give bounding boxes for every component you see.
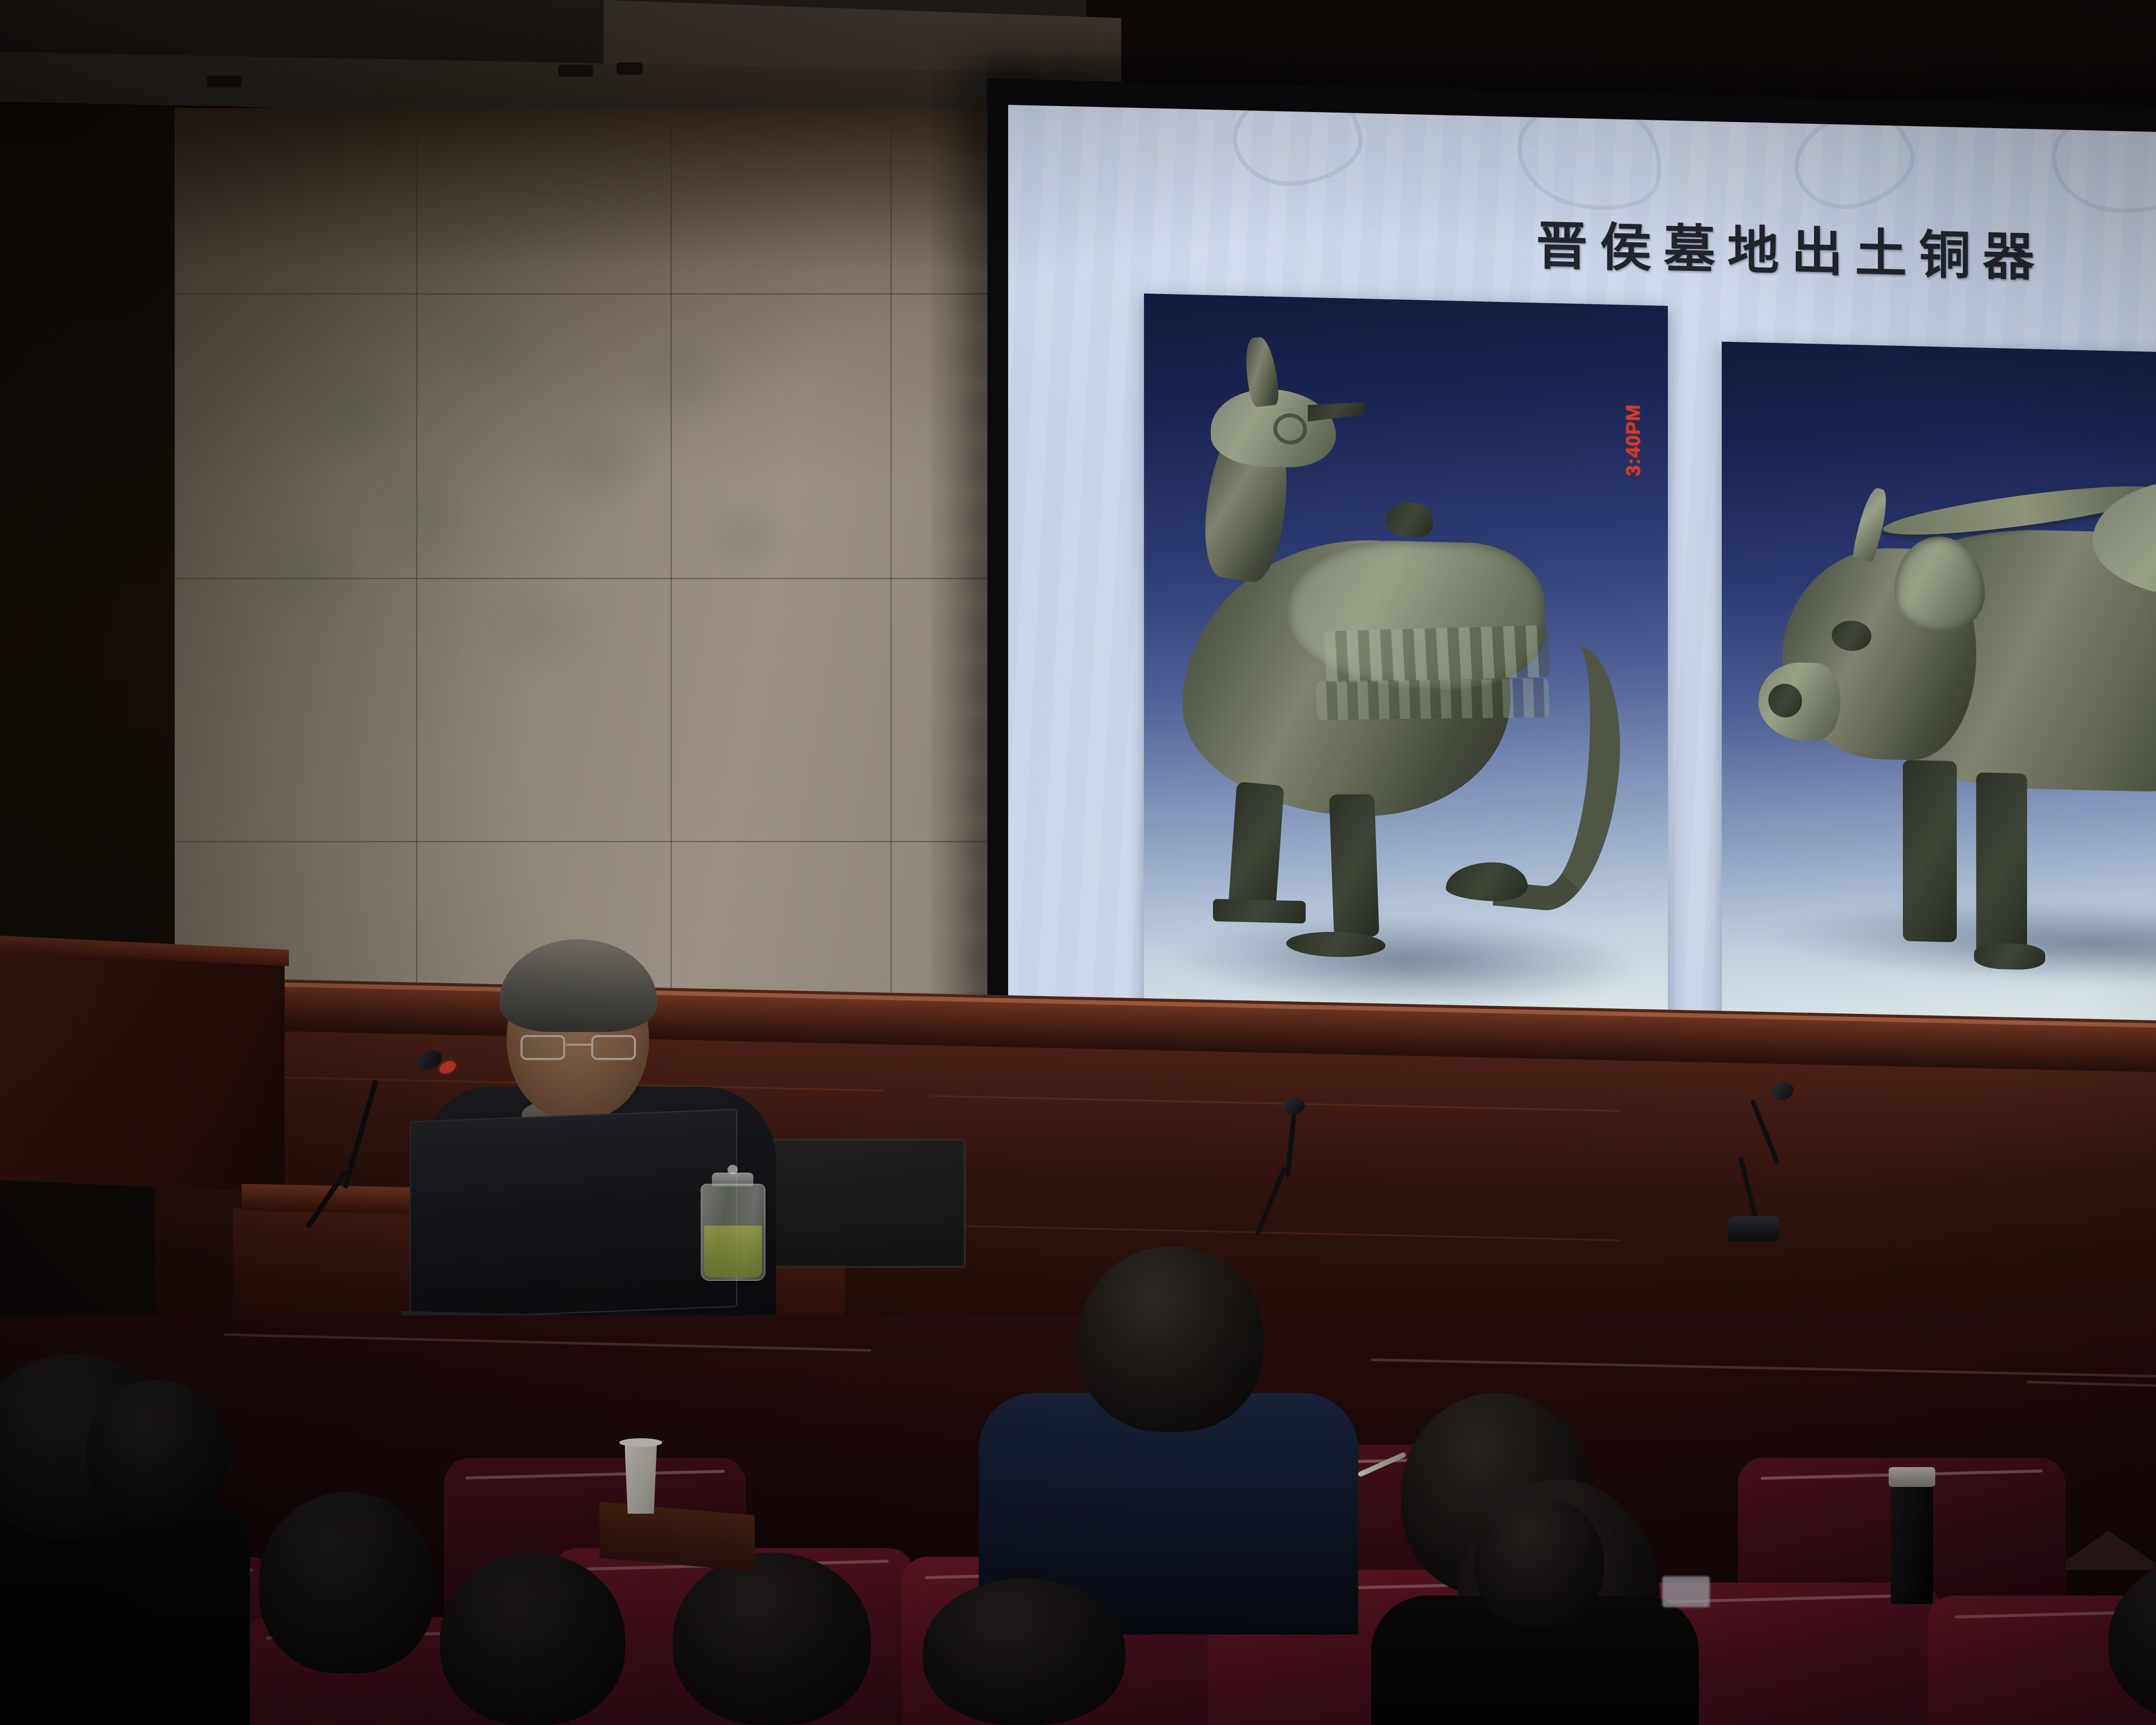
panel-seam (416, 108, 417, 1005)
slide-photo-bird-vessel: 3:40PM (1144, 294, 1668, 1065)
panel-seam (175, 841, 990, 842)
slide-watermark-shape (1781, 105, 1925, 222)
thermos-cap (1889, 1467, 1935, 1487)
audience-member-head (1475, 1496, 1604, 1626)
panel-seam (671, 108, 672, 1005)
microphone-base (1727, 1216, 1779, 1241)
recessed-downlight-icon (558, 65, 593, 77)
bird-vessel-eye (1273, 413, 1307, 445)
panel-seam (175, 293, 990, 295)
lectern (0, 938, 285, 1193)
seat-piping (465, 1470, 725, 1480)
slide-title: 晋侯墓地出土铜器 (1008, 191, 2156, 303)
audience-member-head (259, 1492, 436, 1673)
recessed-downlight-icon (617, 63, 642, 75)
bird-vessel-leg (1329, 794, 1379, 937)
phone-screen-glow[interactable] (1662, 1576, 1710, 1607)
photo-floor-shadow (1767, 894, 2156, 992)
lecture-hall-scene: 晋侯墓地出土铜器 (0, 0, 2156, 1725)
tea-jar-lid (712, 1173, 753, 1186)
bird-vessel-lid-finial (1385, 502, 1433, 538)
slide-watermark-shape (2046, 105, 2156, 221)
presenter-laptop-screen[interactable] (410, 1109, 737, 1320)
audience-member-head (673, 1552, 871, 1725)
panel-seam (890, 108, 892, 1005)
slide-watermark-shape (1226, 105, 1368, 192)
thermos-bottle[interactable] (1891, 1479, 1933, 1604)
glass-tea-jar (701, 1184, 765, 1281)
paper-cup-rim (619, 1438, 662, 1447)
pig-zun-hoof (1974, 943, 2045, 970)
photo-floor-shadow (1175, 909, 1636, 1011)
eyeglass-bridge (566, 1044, 591, 1046)
wainscot-panel-line (931, 1095, 1621, 1112)
stage-chair (772, 1138, 966, 1268)
audience-member-head (1078, 1246, 1263, 1432)
eyeglass-lens (591, 1035, 636, 1060)
audience-member-head (440, 1552, 625, 1725)
bird-vessel-leg (1228, 781, 1285, 915)
left-dark-wall-pillar (0, 106, 181, 990)
tea-jar-knob (727, 1165, 738, 1174)
wainscot-panel-line (931, 1224, 1621, 1241)
eyeglass-lens (520, 1035, 565, 1060)
acoustic-wall-panels (175, 108, 990, 1005)
audience-member-head (923, 1578, 1125, 1725)
audience-member-head (86, 1380, 229, 1522)
pig-zun-nostril (1768, 684, 1802, 718)
camera-timestamp-stamp: 3:40PM (1621, 404, 1645, 477)
rear-wall-trim (2027, 1381, 2156, 1399)
seat-chevron-detail (2053, 1531, 2156, 1570)
bird-vessel-foot (1213, 899, 1306, 923)
pig-zun-leg (1903, 760, 1957, 942)
pig-zun-leg (1976, 772, 2027, 959)
rear-wall-trim (1371, 1358, 2156, 1378)
tea-leaves (704, 1226, 762, 1277)
panel-seam (175, 578, 990, 579)
recessed-downlight-icon (207, 75, 241, 88)
eyeglasses-icon (519, 1035, 638, 1061)
slide-photo-pig-zun: 6 3:41PM (1722, 342, 2156, 1041)
rear-wall-trim (224, 1333, 871, 1352)
